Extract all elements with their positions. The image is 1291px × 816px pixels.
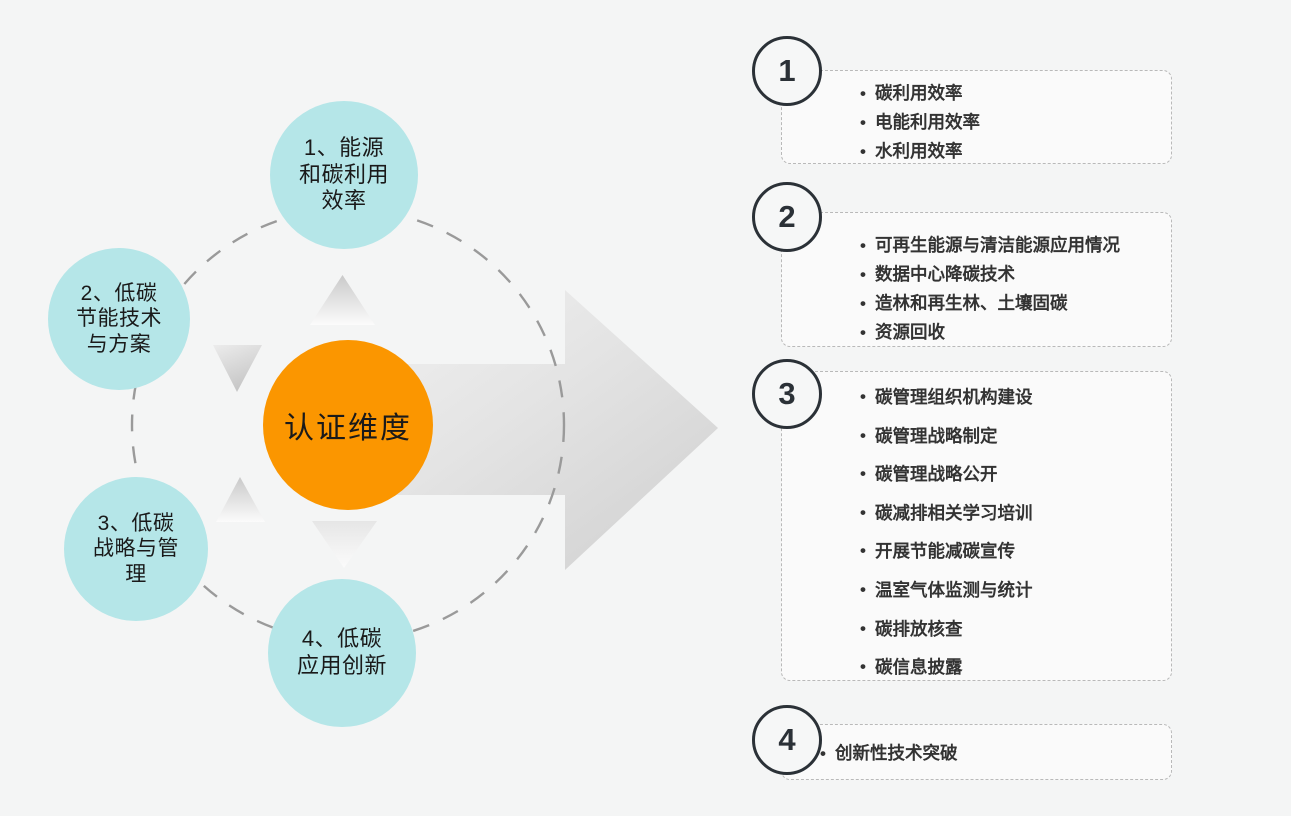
list-item[interactable]: •可再生能源与清洁能源应用情况 [860, 231, 1120, 260]
list-item[interactable]: •碳管理战略公开 [860, 455, 1033, 494]
bullet-icon: • [860, 571, 875, 610]
bullet-icon: • [860, 260, 875, 289]
list-item-label: 温室气体监测与统计 [875, 571, 1033, 610]
group-item-list-1: •碳利用效率•电能利用效率•水利用效率 [860, 79, 980, 166]
cycle-node-3[interactable]: 3、低碳战略与管理 [64, 477, 208, 621]
bullet-icon: • [860, 79, 875, 108]
bullet-icon: • [860, 137, 875, 166]
list-item-label: 碳减排相关学习培训 [875, 494, 1033, 533]
list-item-label: 水利用效率 [875, 137, 963, 166]
list-item[interactable]: •创新性技术突破 [820, 739, 958, 768]
bullet-icon: • [860, 417, 875, 456]
cycle-node-1-label: 1、能源和碳利用效率 [293, 135, 395, 215]
list-item[interactable]: •碳减排相关学习培训 [860, 494, 1033, 533]
list-item-label: 数据中心降碳技术 [875, 260, 1015, 289]
triangle-down-icon [312, 521, 377, 568]
cycle-node-4[interactable]: 4、低碳应用创新 [268, 579, 416, 727]
bullet-icon: • [860, 289, 875, 318]
list-item[interactable]: •电能利用效率 [860, 108, 980, 137]
list-item-label: 开展节能减碳宣传 [875, 532, 1015, 571]
list-item-label: 造林和再生林、土壤固碳 [875, 289, 1068, 318]
group-item-list-4: •创新性技术突破 [820, 739, 958, 768]
list-item[interactable]: •碳排放核查 [860, 610, 1033, 649]
center-node[interactable]: 认证维度 [263, 340, 433, 510]
list-item-label: 碳信息披露 [875, 648, 963, 687]
cycle-node-4-label: 4、低碳应用创新 [291, 626, 393, 680]
list-item-label: 碳排放核查 [875, 610, 963, 649]
group-item-list-3: •碳管理组织机构建设•碳管理战略制定•碳管理战略公开•碳减排相关学习培训•开展节… [860, 378, 1033, 687]
cycle-node-1[interactable]: 1、能源和碳利用效率 [270, 101, 418, 249]
detail-groups: 1•碳利用效率•电能利用效率•水利用效率2•可再生能源与清洁能源应用情况•数据中… [740, 0, 1291, 816]
list-item-label: 创新性技术突破 [835, 739, 958, 768]
bullet-icon: • [860, 494, 875, 533]
list-item-label: 碳管理战略公开 [875, 455, 998, 494]
triangle-down-left-icon [213, 345, 262, 392]
list-item[interactable]: •水利用效率 [860, 137, 980, 166]
bullet-icon: • [860, 231, 875, 260]
list-item-label: 电能利用效率 [875, 108, 980, 137]
cycle-node-2-label: 2、低碳节能技术与方案 [70, 281, 168, 358]
list-item[interactable]: •碳管理组织机构建设 [860, 378, 1033, 417]
list-item-label: 碳管理战略制定 [875, 417, 998, 456]
bullet-icon: • [860, 610, 875, 649]
group-number-badge-4[interactable]: 4 [752, 705, 822, 775]
triangle-up-left-icon [216, 477, 265, 522]
bullet-icon: • [860, 455, 875, 494]
list-item-label: 资源回收 [875, 318, 945, 347]
list-item[interactable]: •碳管理战略制定 [860, 417, 1033, 456]
bullet-icon: • [860, 378, 875, 417]
list-item[interactable]: •温室气体监测与统计 [860, 571, 1033, 610]
group-number-badge-2[interactable]: 2 [752, 182, 822, 252]
list-item-label: 碳利用效率 [875, 79, 963, 108]
list-item-label: 可再生能源与清洁能源应用情况 [875, 231, 1120, 260]
group-item-list-2: •可再生能源与清洁能源应用情况•数据中心降碳技术•造林和再生林、土壤固碳•资源回… [860, 231, 1120, 347]
center-node-label: 认证维度 [284, 403, 412, 447]
bullet-icon: • [860, 318, 875, 347]
group-number-badge-3[interactable]: 3 [752, 359, 822, 429]
bullet-icon: • [860, 532, 875, 571]
list-item[interactable]: •资源回收 [860, 318, 1120, 347]
diagram-canvas: 认证维度 1、能源和碳利用效率 2、低碳节能技术与方案 3、低碳战略与管理 4、… [0, 0, 1291, 816]
list-item[interactable]: •开展节能减碳宣传 [860, 532, 1033, 571]
cycle-node-3-label: 3、低碳战略与管理 [87, 511, 185, 588]
list-item-label: 碳管理组织机构建设 [875, 378, 1033, 417]
list-item[interactable]: •数据中心降碳技术 [860, 260, 1120, 289]
triangle-up-icon [310, 275, 375, 325]
cycle-node-2[interactable]: 2、低碳节能技术与方案 [48, 248, 190, 390]
list-item[interactable]: •碳信息披露 [860, 648, 1033, 687]
bullet-icon: • [860, 648, 875, 687]
list-item[interactable]: •造林和再生林、土壤固碳 [860, 289, 1120, 318]
bullet-icon: • [820, 739, 835, 768]
group-number-badge-1[interactable]: 1 [752, 36, 822, 106]
list-item[interactable]: •碳利用效率 [860, 79, 980, 108]
cycle-diagram: 认证维度 1、能源和碳利用效率 2、低碳节能技术与方案 3、低碳战略与管理 4、… [0, 0, 740, 816]
bullet-icon: • [860, 108, 875, 137]
